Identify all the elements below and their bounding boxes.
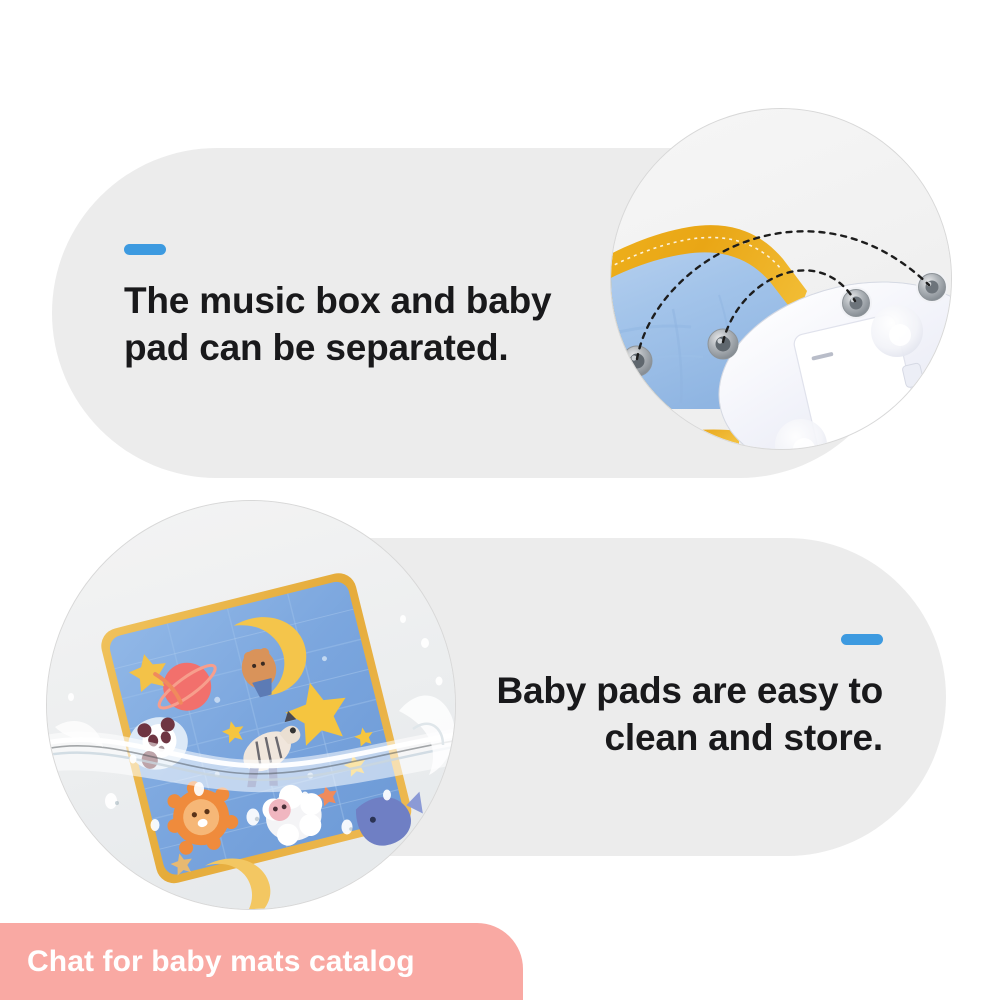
feature-card-body: Baby pads are easy to clean and store. (496, 634, 883, 762)
accent-dash-icon (841, 634, 883, 645)
cta-label: Chat for baby mats catalog (27, 945, 415, 979)
photo-snap-detachment (610, 108, 952, 450)
feature-headline: The music box and baby pad can be separa… (124, 277, 551, 372)
cta-banner[interactable]: Chat for baby mats catalog (0, 923, 523, 1000)
feature-card-body: The music box and baby pad can be separa… (124, 244, 551, 372)
snap-button (708, 329, 738, 359)
snap-detachment-illustration (611, 109, 951, 449)
washable-mat-illustration (47, 501, 455, 909)
snap-socket (916, 271, 948, 303)
feature-headline: Baby pads are easy to clean and store. (496, 667, 883, 762)
photo-washable-mat (46, 500, 456, 910)
promo-canvas: The music box and baby pad can be separa… (0, 0, 1000, 1000)
snap-socket (840, 287, 872, 319)
accent-dash-icon (124, 244, 166, 255)
